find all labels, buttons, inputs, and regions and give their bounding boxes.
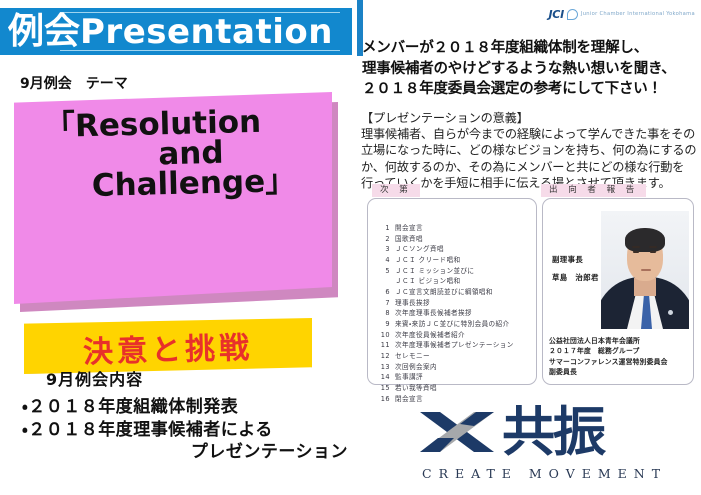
agenda-item-number: 9 [374, 319, 395, 330]
agenda-item: 9来賓・来訪ＪＣ並びに特別会員の紹介 [374, 319, 534, 330]
theme-label-word: テーマ [86, 76, 128, 92]
theme-label-month: 9月例会 [20, 76, 72, 92]
agenda-item: 13次回例会案内 [374, 362, 534, 373]
jci-logo: JCI Junior Chamber International Yokoham… [549, 6, 695, 22]
theme-plate-text: 「Resolution and Challenge」 [14, 110, 332, 199]
person-profile: 副理事長 草島 治郎君 公益社団法人日本青年会議所 [543, 199, 693, 384]
agenda-item-number: 12 [374, 351, 395, 362]
headline-line: 理事候補者のやけどするような熱い想いを聞き、 [362, 59, 698, 80]
title-banner: 例会Presentation [0, 8, 352, 55]
agenda-item-label: セレモニー [395, 351, 534, 362]
agenda-item-number: 8 [374, 308, 395, 319]
significance-line: 理事候補者、自らが今までの経験によって学んできた事をその [361, 126, 701, 142]
agenda-item-label: 次年度理事候補者プレゼンテーション [395, 340, 534, 351]
meeting-contents-item: ・２０１８年度組織体制発表 [22, 396, 352, 419]
agenda-item-label: 開会宣言 [395, 223, 534, 234]
slide-root: 例会Presentation 9月例会テーマ 「Resolution and C… [0, 0, 701, 495]
significance-line: か、何故するのか、その為にメンバーと共にどの様な行動を [361, 159, 701, 175]
person-org-line: 副委員長 [549, 367, 691, 378]
agenda-item-number: 3 [374, 244, 395, 255]
agenda-item-number: 14 [374, 372, 395, 383]
agenda-item-number: 1 [374, 223, 395, 234]
brand-tagline: CREATE MOVEMENT [422, 466, 666, 481]
person-org-line: 公益社団法人日本青年会議所 [549, 336, 691, 347]
agenda-item: 3ＪＣソング斉唱 [374, 244, 534, 255]
agenda-item-number: 7 [374, 298, 395, 309]
theme-plate: 「Resolution and Challenge」 [14, 92, 332, 304]
tab-report: 出 向 者 報 告 [541, 184, 646, 197]
agenda-item-label: 理事長挨拶 [395, 298, 534, 309]
agenda-item-number [374, 276, 395, 287]
agenda-item-number: 11 [374, 340, 395, 351]
agenda-item-label: 次回例会案内 [395, 362, 534, 373]
agenda-item-number: 10 [374, 330, 395, 341]
meeting-contents: 9月例会内容 ・２０１８年度組織体制発表 ・２０１８年度理事候補者による プレゼ… [22, 366, 352, 464]
agenda-item-number: 15 [374, 383, 395, 394]
headline-line: ２０１８年度委員会選定の参考にして下さい！ [362, 79, 698, 100]
meeting-contents-heading: 9月例会内容 [46, 366, 352, 390]
page-title-jp: 例会 [8, 11, 80, 52]
agenda-item-label: 監事講評 [395, 372, 534, 383]
significance-heading: 【プレゼンテーションの意義】 [361, 110, 701, 126]
page-title-en: Presentation [80, 12, 333, 52]
agenda-item-label: 国歌斉唱 [395, 234, 534, 245]
person-name: 草島 治郎君 [552, 272, 599, 283]
agenda-item-number: 4 [374, 255, 395, 266]
headline-line: メンバーが２０１８年度組織体制を理解し、 [362, 38, 698, 59]
agenda-item: 11次年度理事候補者プレゼンテーション [374, 340, 534, 351]
agenda-item: 14監事講評 [374, 372, 534, 383]
meeting-contents-item: プレゼンテーション [22, 441, 352, 464]
person-org-line: サマーコンファレンス運営特別委員会 [549, 357, 691, 368]
headline: メンバーが２０１８年度組織体制を理解し、 理事候補者のやけどするような熱い想いを… [362, 38, 698, 100]
agenda-item-label: ＪＣソング斉唱 [395, 244, 534, 255]
globe-icon [567, 9, 578, 20]
agenda-item: 4ＪＣＩ クリード唱和 [374, 255, 534, 266]
agenda-item-label: ＪＣ宣言文朗読並びに綱領唱和 [395, 287, 534, 298]
agenda-item: 2国歌斉唱 [374, 234, 534, 245]
brand-kanji: 共振 [502, 404, 604, 462]
person-role: 副理事長 [552, 254, 583, 265]
agenda-item-label: 次年度役員候補者紹介 [395, 330, 534, 341]
agenda-item: 8次年度理事長候補者挨拶 [374, 308, 534, 319]
agenda-item-label: 若い我等斉唱 [395, 383, 534, 394]
x-mark-icon [418, 408, 496, 460]
agenda-list: 1開会宣言2国歌斉唱3ＪＣソング斉唱4ＪＣＩ クリード唱和5ＪＣＩ ミッション並… [374, 223, 534, 404]
jci-wordmark: JCI [549, 8, 564, 21]
brand-logo: 共振 CREATE MOVEMENT [418, 406, 668, 488]
significance-line: 立場になった時に、どの様なビジョンを持ち、何の為にするの [361, 142, 701, 158]
agenda-item-label: 次年度理事長候補者挨拶 [395, 308, 534, 319]
agenda-item: 10次年度役員候補者紹介 [374, 330, 534, 341]
report-card: 副理事長 草島 治郎君 公益社団法人日本青年会議所 [542, 198, 694, 385]
agenda-item-label: ＪＣＩ ビジョン唱和 [395, 276, 534, 287]
tab-agenda: 次 第 [372, 184, 420, 197]
agenda-item-label: ＪＣＩ クリード唱和 [395, 255, 534, 266]
agenda-item: 12セレモニー [374, 351, 534, 362]
theme-plate-group: 「Resolution and Challenge」 決意と挑戦 [8, 92, 338, 314]
agenda-card: 1開会宣言2国歌斉唱3ＪＣソング斉唱4ＪＣＩ クリード唱和5ＪＣＩ ミッション並… [367, 198, 537, 385]
theme-label: 9月例会テーマ [20, 73, 128, 93]
agenda-item: ＪＣＩ ビジョン唱和 [374, 276, 534, 287]
person-organization: 公益社団法人日本青年会議所 ２０１７年度 総務グループ サマーコンファレンス運営… [549, 336, 691, 378]
agenda-item: 6ＪＣ宣言文朗読並びに綱領唱和 [374, 287, 534, 298]
agenda-item-label: ＪＣＩ ミッション並びに [395, 266, 534, 277]
person-org-line: ２０１７年度 総務グループ [549, 346, 691, 357]
agenda-item: 15若い我等斉唱 [374, 383, 534, 394]
agenda-item-number: 16 [374, 394, 395, 405]
agenda-item: 7理事長挨拶 [374, 298, 534, 309]
significance-block: 【プレゼンテーションの意義】 理事候補者、自らが今までの経験によって学んできた事… [361, 110, 701, 191]
jci-subtitle: Junior Chamber International Yokohama [581, 11, 695, 17]
agenda-item: 5ＪＣＩ ミッション並びに [374, 266, 534, 277]
agenda-item-label: 来賓・来訪ＪＣ並びに特別会員の紹介 [395, 319, 534, 330]
agenda-item-number: 5 [374, 266, 395, 277]
person-photo [601, 211, 689, 329]
meeting-contents-item: ・２０１８年度理事候補者による [22, 419, 352, 442]
agenda-item-number: 2 [374, 234, 395, 245]
agenda-item: 1開会宣言 [374, 223, 534, 234]
agenda-item-number: 13 [374, 362, 395, 373]
agenda-item-number: 6 [374, 287, 395, 298]
page-title: 例会Presentation [8, 8, 333, 55]
left-column: 例会Presentation 9月例会テーマ 「Resolution and C… [0, 0, 356, 495]
